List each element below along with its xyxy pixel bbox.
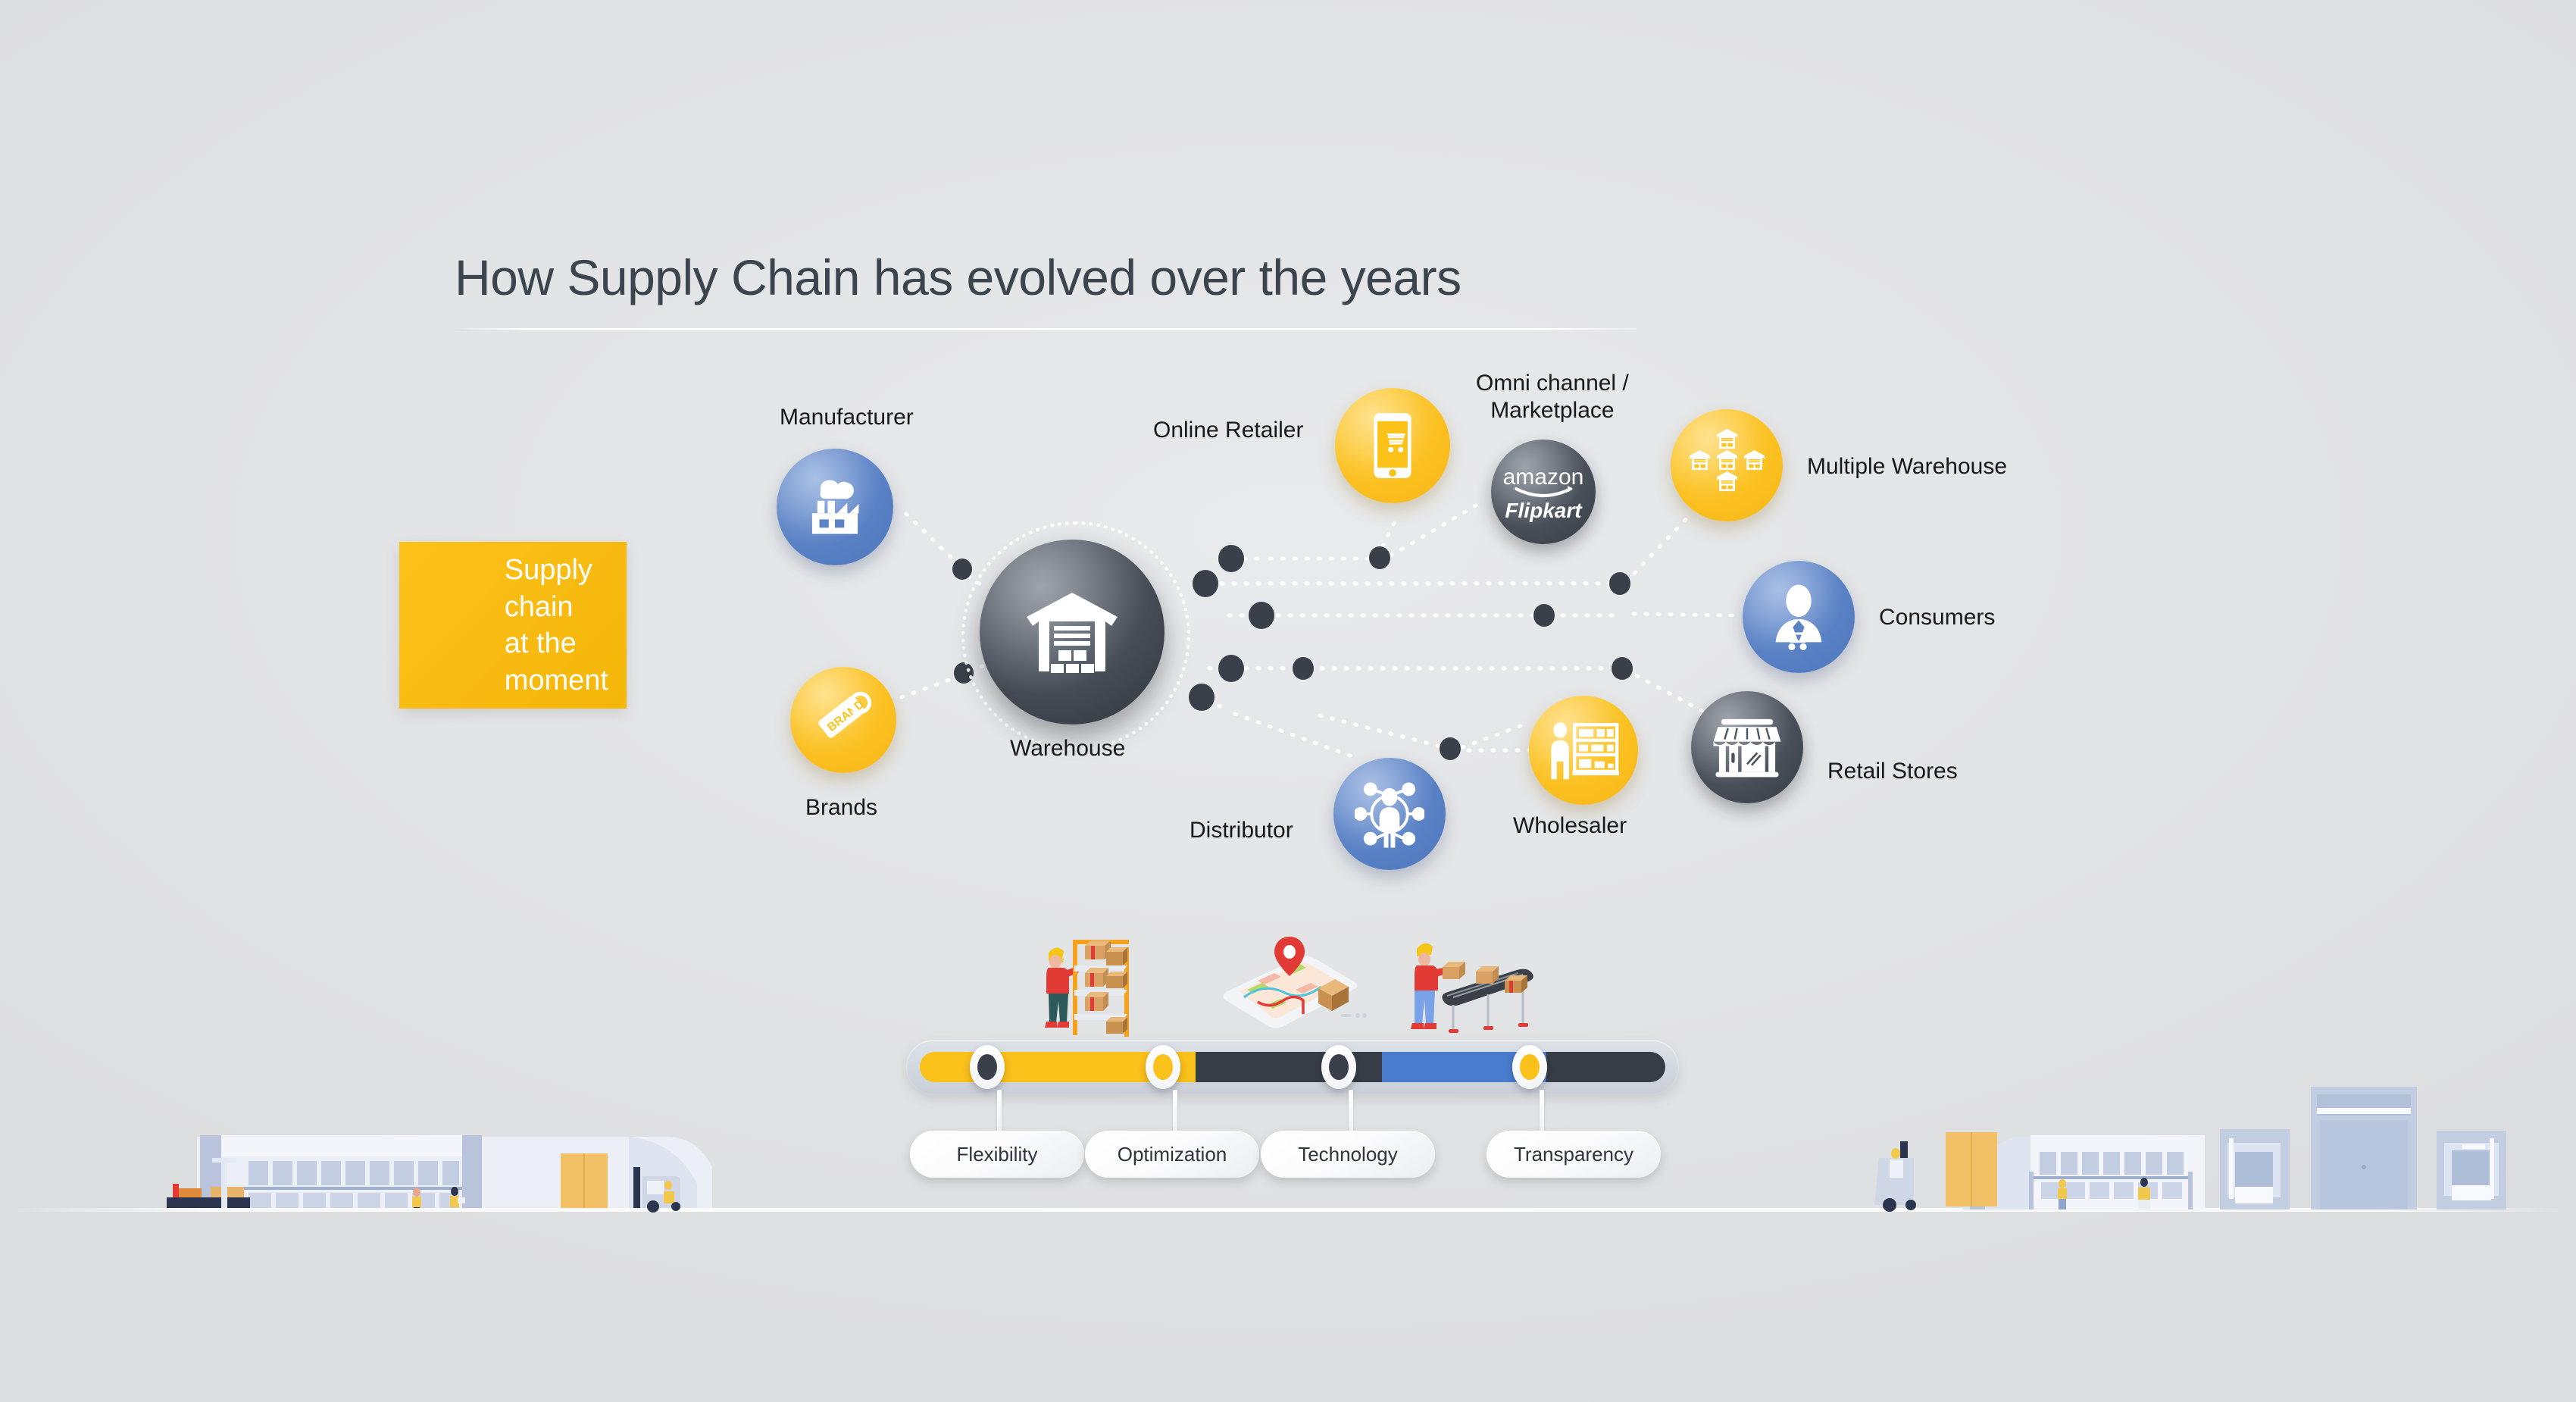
illustration-row: [1015, 926, 1561, 1055]
node-warehouse-label: Warehouse: [1010, 735, 1125, 762]
junction-dot: [1218, 655, 1244, 682]
worker-shelving-illustration: [1036, 940, 1129, 1050]
timeline-marker-transparency[interactable]: [1512, 1045, 1547, 1089]
timeline-stem-technology: [1349, 1090, 1353, 1134]
node-multiple-warehouse[interactable]: [1671, 409, 1783, 521]
junction-dot: [1612, 657, 1633, 680]
timeline-stem-flexibility: [997, 1090, 1002, 1134]
warehouse-scene-left: [152, 1046, 712, 1213]
callout-line-4: moment: [505, 662, 608, 699]
worker-conveyor-illustration: [1411, 944, 1533, 1033]
timeline-chip-flexibility[interactable]: Flexibility: [910, 1131, 1084, 1178]
factory-icon: [804, 477, 866, 537]
node-online-retailer[interactable]: [1335, 388, 1450, 503]
timeline-marker-technology[interactable]: [1321, 1045, 1356, 1089]
evolution-progress-bar[interactable]: [906, 1040, 1679, 1094]
supply-chain-callout-text: Supply chain at the moment: [505, 552, 608, 699]
callout-line-1: Supply: [505, 552, 608, 589]
junction-dot: [1533, 604, 1555, 627]
node-brands[interactable]: BRAND: [790, 667, 896, 773]
multiple-warehouse-icon: [1687, 426, 1766, 505]
node-warehouse[interactable]: [980, 540, 1165, 724]
timeline-chip-optimization[interactable]: Optimization: [1085, 1131, 1259, 1178]
timeline-marker-optimization[interactable]: [1146, 1045, 1180, 1089]
node-distributor[interactable]: [1333, 758, 1446, 870]
node-multiple-warehouse-label: Multiple Warehouse: [1807, 453, 2007, 480]
price-tag-icon: BRAND: [811, 689, 876, 751]
warehouse-storefront-scene-right: [1856, 1038, 2523, 1213]
timeline-marker-flexibility[interactable]: [970, 1045, 1005, 1089]
callout-line-2: chain: [505, 588, 608, 625]
tablet-map-route-illustration: [1223, 937, 1367, 1028]
svg-text:Flipkart: Flipkart: [1505, 499, 1583, 522]
progress-track: [920, 1052, 1665, 1082]
node-online-retailer-label: Online Retailer: [1153, 417, 1303, 444]
warehouse-icon: [1024, 587, 1121, 677]
supply-chain-callout-box: Supply chain at the moment: [399, 542, 627, 709]
distribution-network-icon: [1355, 780, 1424, 848]
junction-dot: [1249, 602, 1274, 629]
junction-dot: [1193, 570, 1218, 597]
junction-dot: [1440, 737, 1461, 760]
junction-dot: [1369, 546, 1390, 569]
node-omni-channel-label: Omni channel / Marketplace: [1476, 370, 1629, 424]
node-omni-channel[interactable]: amazon Flipkart: [1491, 440, 1596, 544]
node-distributor-label: Distributor: [1190, 817, 1293, 844]
title-block: How Supply Chain has evolved over the ye…: [455, 250, 1682, 330]
junction-dot: [952, 559, 972, 580]
timeline-chip-technology[interactable]: Technology: [1261, 1131, 1435, 1178]
timeline-chip-transparency[interactable]: Transparency: [1487, 1131, 1661, 1178]
progress-segment-4: [1546, 1052, 1665, 1082]
junction-dot: [1189, 684, 1215, 711]
junction-dot: [1293, 657, 1314, 680]
node-manufacturer-label: Manufacturer: [780, 404, 914, 431]
consumer-cart-icon: [1765, 582, 1832, 652]
junction-dot: [1218, 545, 1244, 572]
storefront-icon: [1712, 715, 1782, 779]
timeline-stem-optimization: [1173, 1090, 1177, 1134]
node-wholesaler[interactable]: [1529, 696, 1638, 805]
node-consumers-label: Consumers: [1879, 604, 1995, 631]
title-divider: [455, 328, 1637, 330]
timeline-stem-transparency: [1540, 1090, 1544, 1134]
node-retail-stores[interactable]: [1691, 691, 1803, 803]
node-manufacturer[interactable]: [777, 449, 893, 565]
callout-line-3: at the: [505, 625, 608, 662]
infographic-canvas: How Supply Chain has evolved over the ye…: [0, 0, 2576, 1402]
page-title: How Supply Chain has evolved over the ye…: [455, 250, 1682, 305]
junction-dot: [1609, 572, 1630, 595]
node-wholesaler-label: Wholesaler: [1513, 812, 1627, 840]
mobile-cart-icon: [1365, 411, 1420, 480]
node-consumers[interactable]: [1743, 561, 1855, 673]
node-retail-stores-label: Retail Stores: [1827, 758, 1958, 785]
wholesaler-shelf-icon: [1548, 718, 1619, 782]
marketplace-logos-icon: amazon Flipkart: [1498, 451, 1589, 533]
svg-text:amazon: amazon: [1503, 465, 1584, 490]
node-brands-label: Brands: [805, 794, 877, 821]
